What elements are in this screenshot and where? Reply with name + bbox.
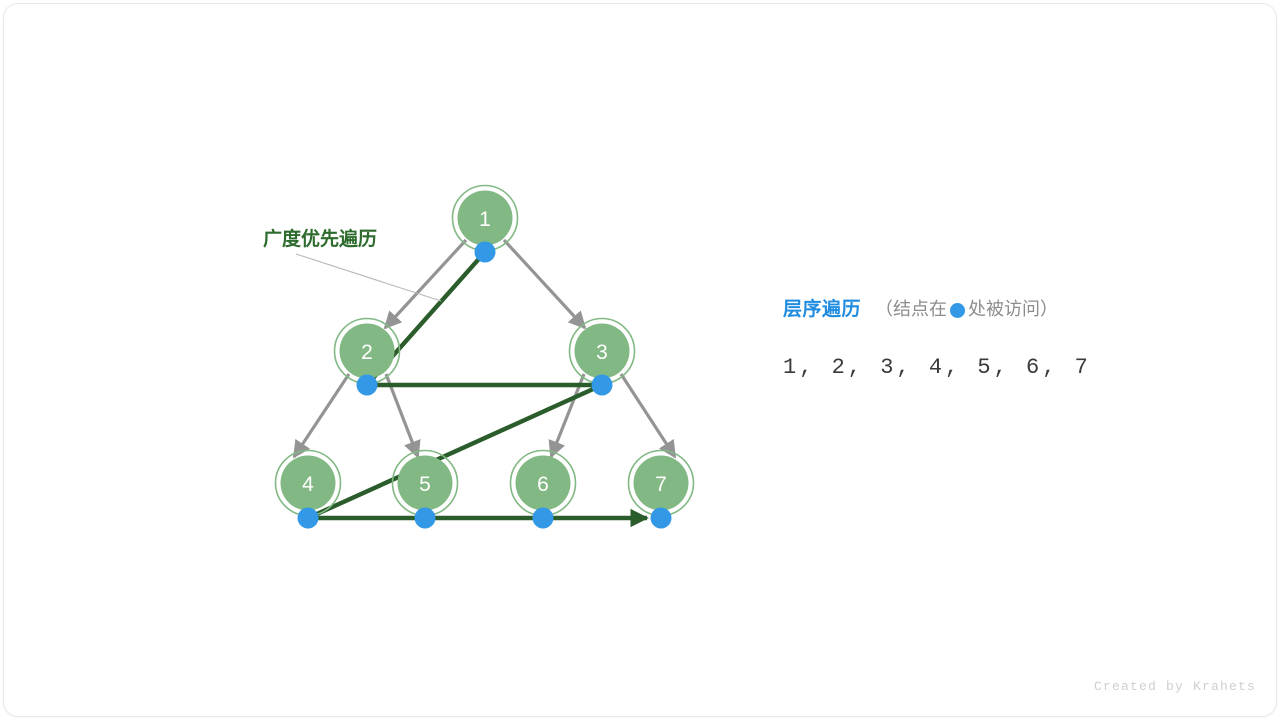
legend-note: （结点在 处被访问） [875, 300, 1058, 318]
traversal-sequence-output: 1, 2, 3, 4, 5, 6, 7 [783, 355, 1203, 380]
node-2[interactable]: 2 [335, 319, 400, 384]
visit-dot-node-5 [415, 508, 436, 529]
visit-dot-node-7 [651, 508, 672, 529]
node-6[interactable]: 6 [511, 451, 576, 516]
tree-edge-3-7 [621, 374, 675, 457]
legend-heading-row: 层序遍历 （结点在 处被访问） [783, 300, 1203, 319]
visit-dot-node-4 [298, 508, 319, 529]
slide-card: 1 2 3 4 5 [4, 4, 1276, 716]
node-4[interactable]: 4 [276, 451, 341, 516]
node-3[interactable]: 3 [570, 319, 635, 384]
bfs-annotation: 广度优先遍历 [263, 227, 441, 301]
node-7[interactable]: 7 [629, 451, 694, 516]
annotation-leader-line [296, 254, 441, 301]
legend-note-suffix: 处被访问） [968, 300, 1058, 318]
legend-note-prefix: （结点在 [875, 300, 947, 318]
visit-dot-node-2 [357, 375, 378, 396]
node-label: 3 [596, 341, 608, 364]
legend-panel: 层序遍历 （结点在 处被访问） 1, 2, 3, 4, 5, 6, 7 [783, 300, 1203, 380]
node-5[interactable]: 5 [393, 451, 458, 516]
visit-dot-node-1 [475, 242, 496, 263]
bfs-annotation-label: 广度优先遍历 [263, 227, 377, 250]
legend-title: 层序遍历 [783, 300, 861, 319]
node-label: 7 [655, 473, 667, 496]
node-label: 4 [302, 473, 314, 496]
node-1[interactable]: 1 [453, 186, 518, 251]
tree-edge-2-4 [294, 374, 349, 457]
tree-edge-1-3 [504, 240, 585, 328]
node-label: 2 [361, 341, 373, 364]
node-label: 5 [419, 473, 431, 496]
node-label: 6 [537, 473, 549, 496]
visit-marker-icon [950, 303, 965, 318]
visit-dot-node-3 [592, 375, 613, 396]
credit-footer: Created by Krahets [1094, 679, 1256, 694]
visit-dot-node-6 [533, 508, 554, 529]
node-label: 1 [479, 208, 491, 231]
